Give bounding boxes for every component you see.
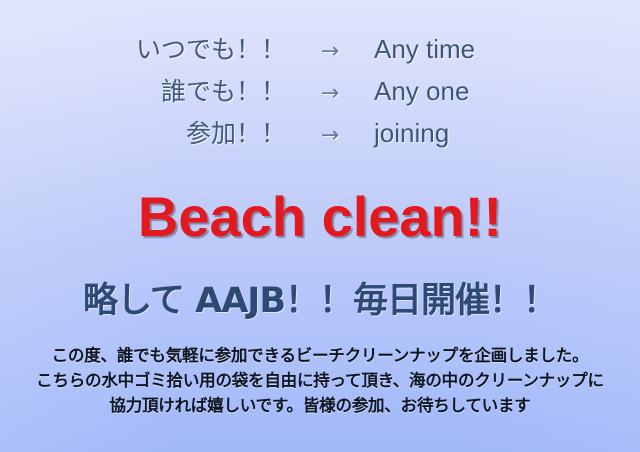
mapping-english-text: Any time (374, 34, 554, 65)
body-line: この度、誰でも気軽に参加できるビーチクリーンナップを企画しました。 (0, 343, 640, 368)
mapping-japanese-text: いつでも！！ (86, 30, 286, 66)
poster-canvas: いつでも！！ → Any time 誰でも！！ → Any one 参加！！ →… (0, 0, 640, 452)
mapping-row: 参加！！ → joining (0, 114, 640, 156)
right-arrow-icon: → (286, 81, 374, 106)
mapping-english-text: joining (374, 118, 554, 149)
right-arrow-icon: → (286, 123, 374, 148)
mapping-row: いつでも！！ → Any time (0, 30, 640, 72)
poster-subtitle: 略して AAJB！！毎日開催！！ (0, 272, 640, 323)
body-line: こちらの水中ゴミ拾い用の袋を自由に持って頂き、海の中のクリーンナップに (0, 368, 640, 393)
mapping-japanese-text: 誰でも！！ (86, 72, 286, 108)
mapping-row: 誰でも！！ → Any one (0, 72, 640, 114)
right-arrow-icon: → (286, 39, 374, 64)
mapping-japanese-text: 参加！！ (86, 114, 286, 150)
mapping-english-text: Any one (374, 76, 554, 107)
phrase-mapping-block: いつでも！！ → Any time 誰でも！！ → Any one 参加！！ →… (0, 30, 640, 156)
body-line: 協力頂ければ嬉しいです。皆様の参加、お待ちしています (0, 393, 640, 418)
poster-body-paragraph: この度、誰でも気軽に参加できるビーチクリーンナップを企画しました。 こちらの水中… (0, 343, 640, 418)
poster-title: Beach clean!! (0, 188, 640, 247)
